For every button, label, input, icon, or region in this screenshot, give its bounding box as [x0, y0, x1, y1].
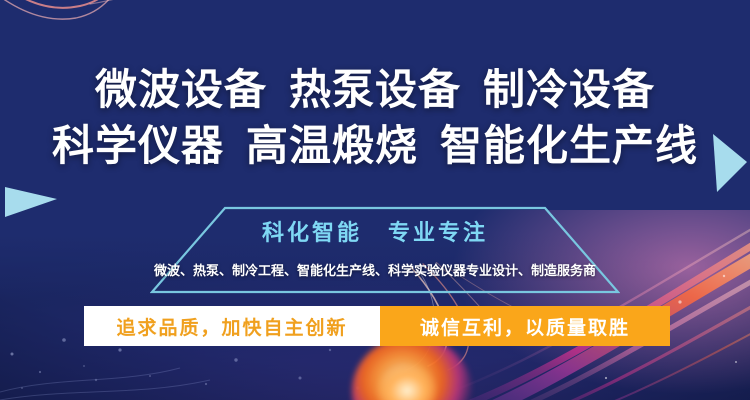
headline-line-1: 微波设备热泵设备制冷设备	[0, 62, 750, 118]
slogan-cyan-right: 专业专注	[388, 221, 488, 246]
headline-word-2: 热泵设备	[289, 65, 461, 114]
headline-line-2: 科学仪器高温煅烧智能化生产线	[0, 118, 750, 174]
slogan-description: 微波、热泵、制冷工程、智能化生产线、科学实验仪器专业设计、制造服务商	[0, 262, 750, 282]
headline-word-3: 制冷设备	[483, 65, 655, 114]
cta-button-row: 追求品质，加快自主创新 诚信互利，以质量取胜	[84, 306, 670, 346]
headline-word-5: 高温煅烧	[246, 121, 418, 170]
headline-word-1: 微波设备	[95, 65, 267, 114]
headline-word-4: 科学仪器	[52, 121, 224, 170]
slogan-cyan-left: 科化智能	[262, 221, 362, 246]
quality-slogan-button[interactable]: 追求品质，加快自主创新	[84, 306, 380, 346]
promo-banner: 微波设备热泵设备制冷设备 科学仪器高温煅烧智能化生产线 科化智能专业专注 微波、…	[0, 0, 750, 400]
headline-word-6: 智能化生产线	[440, 121, 698, 170]
integrity-slogan-button[interactable]: 诚信互利，以质量取胜	[380, 306, 670, 346]
headline: 微波设备热泵设备制冷设备 科学仪器高温煅烧智能化生产线	[0, 62, 750, 174]
slogan-cyan: 科化智能专业专注	[0, 218, 750, 250]
